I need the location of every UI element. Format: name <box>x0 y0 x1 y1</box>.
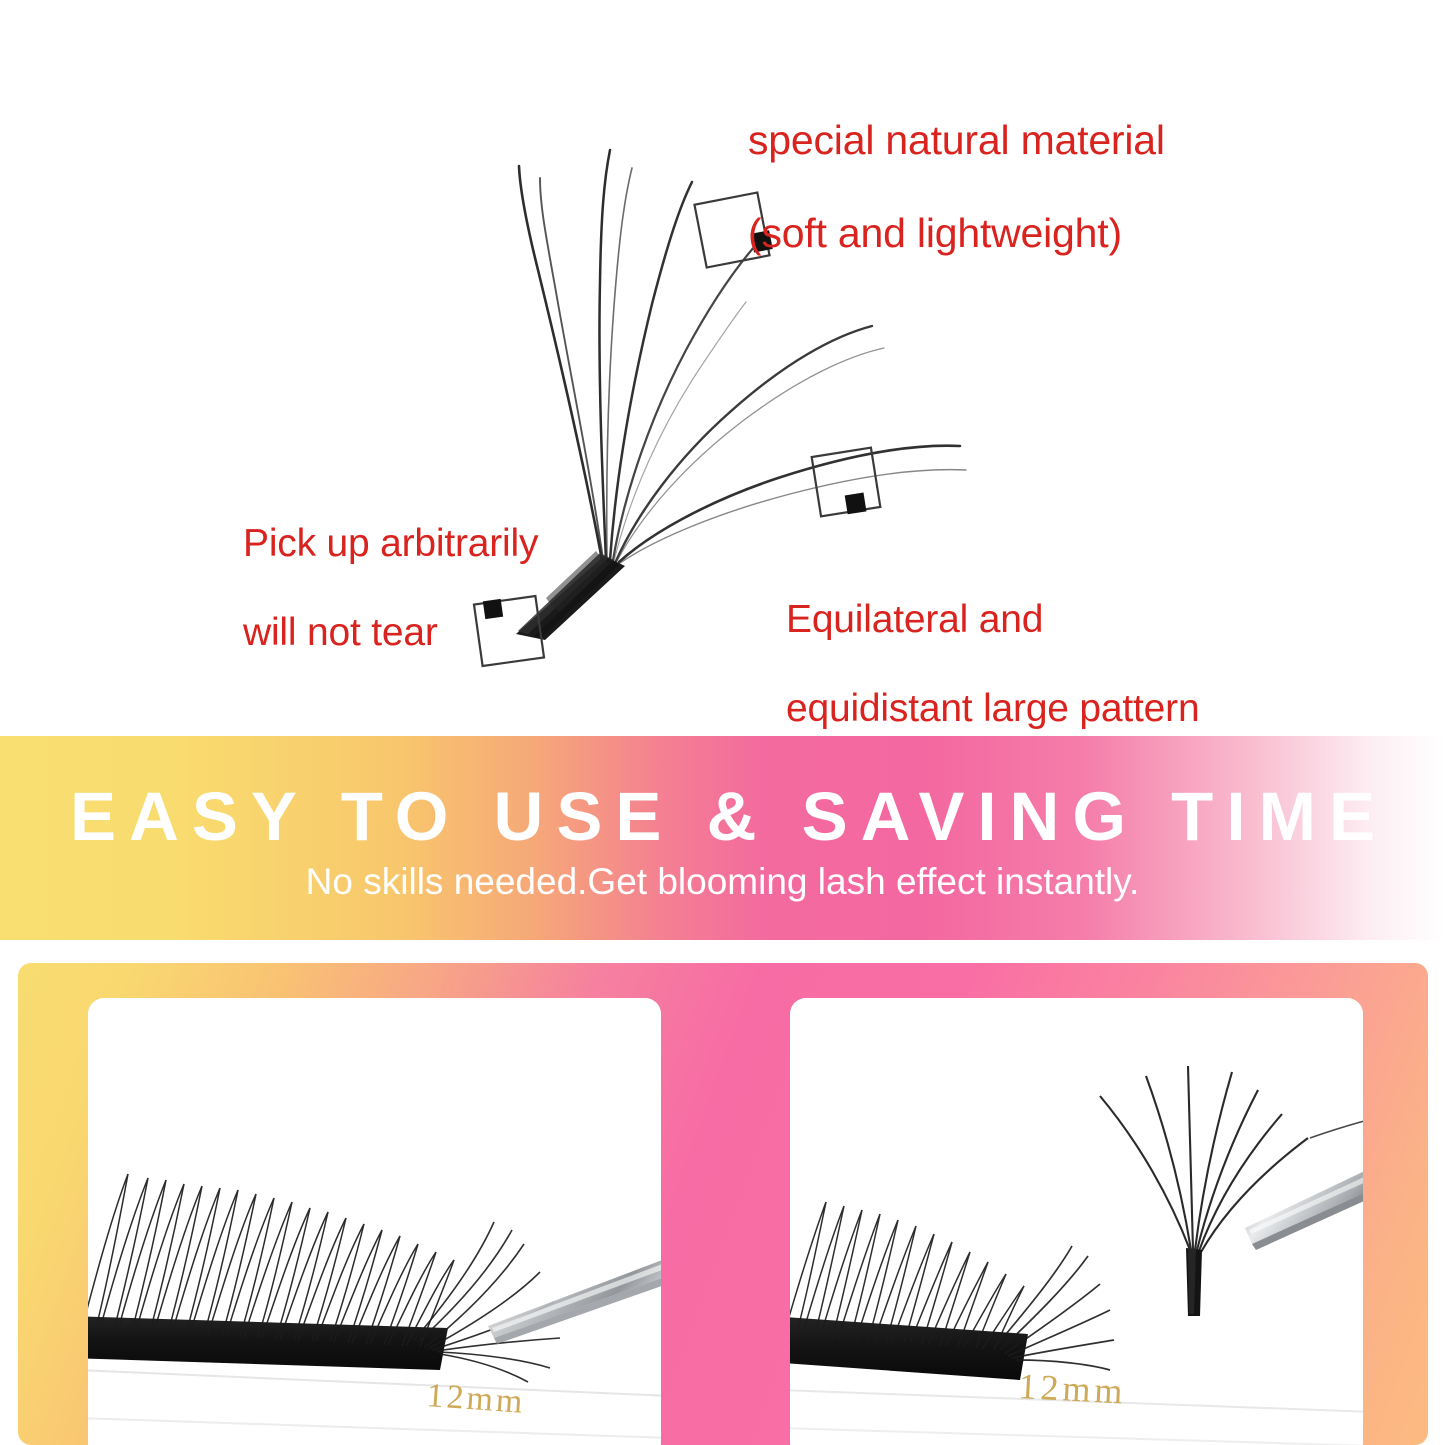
lash-fan-pickup-photo: 12mm <box>790 998 1363 1445</box>
photo-card-lash-tray-closeup: 12mm 12mm <box>88 998 661 1445</box>
lash-tray-photo: 12mm <box>88 998 661 1445</box>
callout-pickup-line1: Pick up arbitrarily <box>243 522 538 565</box>
callout-equilateral-line1: Equilateral and <box>786 598 1043 641</box>
promo-banner: EASY TO USE & SAVING TIME No skills need… <box>0 736 1445 940</box>
photo-card-lash-fan-pickup: 12mm 12mm <box>790 998 1363 1445</box>
feature-diagram-section: special natural material (soft and light… <box>0 0 1445 735</box>
callout-equilateral-equidistant: Equilateral and equidistant large patter… <box>786 554 1199 732</box>
callout-pickup-line2: will not tear <box>243 611 438 654</box>
svg-text:12mm: 12mm <box>425 1377 526 1421</box>
photo-cards-panel: 12mm 12mm <box>18 963 1428 1445</box>
callout-material-line2: (soft and lightweight) <box>748 210 1122 256</box>
embossed-12mm-text: 12mm <box>1018 1366 1128 1412</box>
promo-headline: EASY TO USE & SAVING TIME <box>0 782 1445 851</box>
promo-subtitle: No skills needed.Get blooming lash effec… <box>306 861 1140 902</box>
svg-text:12mm: 12mm <box>1018 1366 1128 1412</box>
promo-subtitle-wrap: No skills needed.Get blooming lash effec… <box>0 861 1445 903</box>
callout-pick-up-arbitrarily: Pick up arbitrarily will not tear <box>243 478 538 656</box>
embossed-12mm-text: 12mm <box>425 1377 526 1421</box>
lash-fan-illustration <box>0 0 1445 735</box>
callout-material-line1: special natural material <box>748 117 1165 163</box>
callout-equilateral-line2: equidistant large pattern <box>786 687 1199 730</box>
callout-special-natural-material: special natural material (soft and light… <box>748 70 1165 257</box>
